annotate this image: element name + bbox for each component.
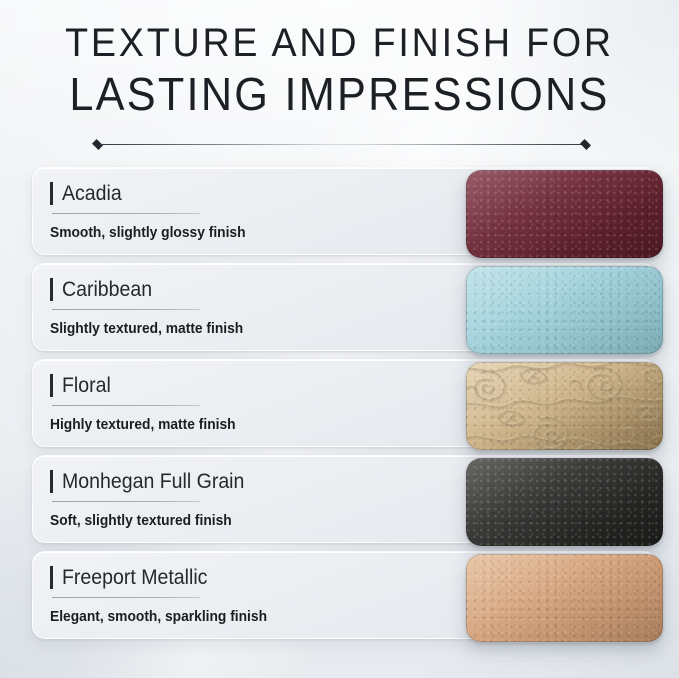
swatch-chip-caribbean[interactable] <box>466 266 663 354</box>
diamond-icon <box>580 139 591 150</box>
swatch-info: Acadia Smooth, slightly glossy finish <box>50 180 263 240</box>
header-divider <box>93 139 590 150</box>
swatch-list: Acadia Smooth, slightly glossy finish Ca… <box>0 167 679 647</box>
swatch-description: Elegant, smooth, sparkling finish <box>50 609 267 624</box>
list-item[interactable]: Floral Highly textured, matte finish <box>0 359 679 455</box>
swatch-description: Slightly textured, matte finish <box>50 321 243 336</box>
swatch-name-row: Freeport Metallic <box>50 564 286 591</box>
swatch-chip-floral[interactable] <box>466 362 663 450</box>
swatch-name: Floral <box>62 375 111 396</box>
list-item[interactable]: Caribbean Slightly textured, matte finis… <box>0 263 679 359</box>
swatch-name: Freeport Metallic <box>62 567 207 588</box>
list-item[interactable]: Acadia Smooth, slightly glossy finish <box>0 167 679 263</box>
page-title-line-2: LASTING IMPRESSIONS <box>20 70 658 120</box>
swatch-info: Floral Highly textured, matte finish <box>50 372 252 432</box>
swatch-name-underline <box>52 405 200 406</box>
swatch-name: Monhegan Full Grain <box>62 471 244 492</box>
chip-edge <box>466 458 663 546</box>
accent-bar-icon <box>50 374 53 397</box>
swatch-info: Caribbean Slightly textured, matte finis… <box>50 276 260 336</box>
swatch-description: Soft, slightly textured finish <box>50 513 241 528</box>
swatch-chip-acadia[interactable] <box>466 170 663 258</box>
swatch-description: Highly textured, matte finish <box>50 417 236 432</box>
accent-bar-icon <box>50 278 53 301</box>
swatch-name-row: Caribbean <box>50 276 260 303</box>
swatch-description: Smooth, slightly glossy finish <box>50 225 246 240</box>
chip-edge <box>466 362 663 450</box>
page-title-line-1: TEXTURE AND FINISH FOR <box>20 22 658 65</box>
swatch-chip-freeport-metallic[interactable] <box>466 554 663 642</box>
chip-edge <box>466 554 663 642</box>
swatch-info: Freeport Metallic Elegant, smooth, spark… <box>50 564 286 624</box>
swatch-name-underline <box>52 309 200 310</box>
chip-edge <box>466 170 663 258</box>
accent-bar-icon <box>50 470 53 493</box>
swatch-name-row: Acadia <box>50 180 263 207</box>
page-header: TEXTURE AND FINISH FOR LASTING IMPRESSIO… <box>0 22 679 120</box>
swatch-name-row: Monhegan Full Grain <box>50 468 258 495</box>
chip-edge <box>466 266 663 354</box>
swatch-chip-monhegan-full-grain[interactable] <box>466 458 663 546</box>
swatch-name-underline <box>52 597 200 598</box>
list-item[interactable]: Monhegan Full Grain Soft, slightly textu… <box>0 455 679 551</box>
swatch-name-row: Floral <box>50 372 252 399</box>
accent-bar-icon <box>50 182 53 205</box>
list-item[interactable]: Freeport Metallic Elegant, smooth, spark… <box>0 551 679 647</box>
swatch-name-underline <box>52 213 200 214</box>
swatch-name-underline <box>52 501 200 502</box>
accent-bar-icon <box>50 566 53 589</box>
swatch-info: Monhegan Full Grain Soft, slightly textu… <box>50 468 258 528</box>
swatch-name: Caribbean <box>62 279 152 300</box>
swatch-name: Acadia <box>62 183 122 204</box>
divider-line <box>99 144 584 145</box>
